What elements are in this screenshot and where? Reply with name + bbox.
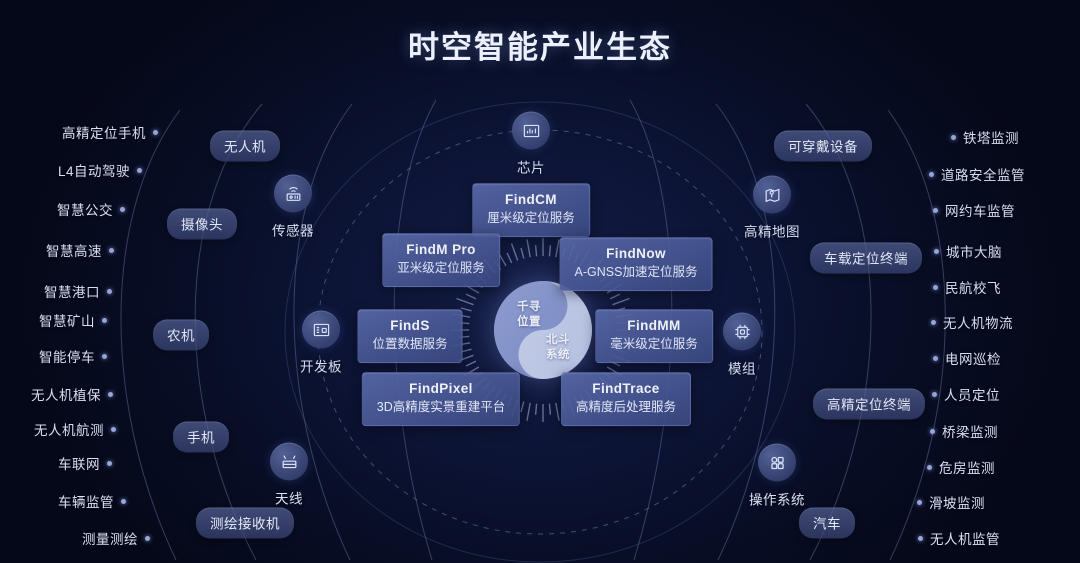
leaf-label-text: 智慧矿山 — [39, 310, 95, 330]
connector-dot-icon — [933, 208, 938, 213]
leaf-label-right[interactable]: 城市大脑 — [934, 241, 1002, 261]
product-card-subtitle: 位置数据服务 — [372, 336, 447, 353]
connector-dot-icon — [137, 168, 142, 173]
icon-node-os[interactable]: 操作系统 — [749, 444, 805, 509]
connector-dot-icon — [153, 130, 158, 135]
product-card-subtitle: 亚米级定位服务 — [397, 260, 485, 277]
product-card-title: FindS — [372, 318, 447, 335]
product-card-findcm[interactable]: FindCM厘米级定位服务 — [472, 183, 590, 237]
leaf-label-text: 智慧港口 — [44, 281, 100, 301]
leaf-label-left[interactable]: 智慧高速 — [46, 240, 114, 260]
leaf-label-text: 智慧高速 — [46, 240, 102, 260]
leaf-label-text: 车辆监管 — [58, 491, 114, 511]
leaf-label-text: 无人机航测 — [34, 419, 104, 439]
connector-dot-icon — [933, 285, 938, 290]
connector-dot-icon — [931, 320, 936, 325]
connector-dot-icon — [145, 536, 150, 541]
leaf-label-left[interactable]: L4自动驾驶 — [58, 160, 142, 180]
product-card-title: FindPixel — [377, 381, 505, 398]
product-card-title: FindM Pro — [397, 242, 485, 259]
product-card-findpixel[interactable]: FindPixel3D高精度实景重建平台 — [362, 372, 520, 426]
core-label-top: 千寻位置 — [506, 300, 552, 330]
page-title: 时空智能产业生态 — [0, 22, 1080, 67]
leaf-label-right[interactable]: 人员定位 — [932, 384, 1000, 404]
leaf-label-right[interactable]: 滑坡监测 — [917, 492, 985, 512]
connector-dot-icon — [930, 429, 935, 434]
connector-dot-icon — [120, 207, 125, 212]
connector-dot-icon — [108, 392, 113, 397]
infographic-canvas: 时空智能产业生态 千寻位置 北斗系统 FindCM厘米级定位服务FindM Pr… — [0, 0, 1080, 563]
pill-hp-term[interactable]: 高精定位终端 — [813, 389, 925, 420]
product-card-title: FindMM — [610, 318, 698, 335]
pill-uav[interactable]: 无人机 — [210, 131, 280, 162]
product-card-subtitle: 3D高精度实景重建平台 — [377, 399, 505, 416]
leaf-label-right[interactable]: 铁塔监测 — [951, 127, 1019, 147]
pill-agri[interactable]: 农机 — [153, 320, 209, 351]
connector-dot-icon — [951, 135, 956, 140]
grid-apps-icon — [758, 444, 796, 482]
leaf-label-text: 铁塔监测 — [963, 127, 1019, 147]
connector-dot-icon — [102, 354, 107, 359]
core-yinyang: 千寻位置 北斗系统 — [494, 281, 592, 379]
icon-node-label: 芯片 — [517, 157, 545, 177]
leaf-label-text: 桥梁监测 — [942, 421, 998, 441]
leaf-label-left[interactable]: 智慧公交 — [57, 199, 125, 219]
product-card-subtitle: 厘米级定位服务 — [487, 210, 575, 227]
connector-dot-icon — [932, 392, 937, 397]
leaf-label-left[interactable]: 智慧港口 — [44, 281, 112, 301]
leaf-label-text: 无人机植保 — [31, 384, 101, 404]
leaf-label-text: 滑坡监测 — [929, 492, 985, 512]
sensor-icon — [274, 175, 312, 213]
leaf-label-text: 道路安全监管 — [941, 164, 1025, 184]
leaf-label-right[interactable]: 民航校飞 — [933, 277, 1001, 297]
connector-dot-icon — [107, 461, 112, 466]
product-card-subtitle: 毫米级定位服务 — [610, 336, 698, 353]
leaf-label-right[interactable]: 桥梁监测 — [930, 421, 998, 441]
chip-icon — [512, 112, 550, 150]
leaf-label-right[interactable]: 电网巡检 — [933, 348, 1001, 368]
module-icon — [723, 313, 761, 351]
leaf-label-text: 网约车监管 — [945, 200, 1015, 220]
leaf-label-left[interactable]: 智能停车 — [39, 346, 107, 366]
core-label-bottom: 北斗系统 — [534, 333, 582, 363]
leaf-label-right[interactable]: 危房监测 — [927, 457, 995, 477]
connector-dot-icon — [109, 248, 114, 253]
icon-node-antenna[interactable]: 天线 — [270, 443, 308, 508]
leaf-label-text: 人员定位 — [944, 384, 1000, 404]
product-card-title: FindCM — [487, 192, 575, 209]
leaf-label-left[interactable]: 无人机植保 — [31, 384, 113, 404]
pill-camera[interactable]: 摄像头 — [167, 209, 237, 240]
leaf-label-right[interactable]: 无人机物流 — [931, 312, 1013, 332]
icon-node-module[interactable]: 模组 — [723, 313, 761, 378]
connector-dot-icon — [934, 249, 939, 254]
leaf-label-text: 城市大脑 — [946, 241, 1002, 261]
leaf-label-text: L4自动驾驶 — [58, 160, 130, 180]
icon-node-label: 模组 — [728, 358, 756, 378]
product-card-findmpro[interactable]: FindM Pro亚米级定位服务 — [382, 233, 500, 287]
product-card-findmm[interactable]: FindMM毫米级定位服务 — [595, 309, 713, 363]
product-card-findtrace[interactable]: FindTrace高精度后处理服务 — [561, 372, 691, 426]
product-card-subtitle: 高精度后处理服务 — [576, 399, 676, 416]
connector-dot-icon — [927, 465, 932, 470]
icon-node-label: 开发板 — [300, 356, 342, 376]
pill-phone[interactable]: 手机 — [173, 422, 229, 453]
devboard-icon — [302, 311, 340, 349]
icon-node-chip[interactable]: 芯片 — [512, 112, 550, 177]
leaf-label-text: 民航校飞 — [945, 277, 1001, 297]
leaf-label-left[interactable]: 高精定位手机 — [62, 122, 158, 142]
map-pin-icon — [753, 176, 791, 214]
pill-vehicle-term[interactable]: 车载定位终端 — [810, 243, 922, 274]
connector-dot-icon — [929, 172, 934, 177]
leaf-label-text: 测量测绘 — [82, 528, 138, 548]
leaf-label-right[interactable]: 无人机监管 — [918, 528, 1000, 548]
leaf-label-text: 无人机物流 — [943, 312, 1013, 332]
icon-node-label: 操作系统 — [749, 489, 805, 509]
pill-car[interactable]: 汽车 — [799, 508, 855, 539]
yinyang-shape — [494, 281, 592, 379]
pill-wearable[interactable]: 可穿戴设备 — [774, 131, 872, 162]
connector-dot-icon — [918, 536, 923, 541]
leaf-label-left[interactable]: 智慧矿山 — [39, 310, 107, 330]
leaf-label-right[interactable]: 道路安全监管 — [929, 164, 1025, 184]
icon-node-label: 传感器 — [272, 220, 314, 240]
leaf-label-text: 无人机监管 — [930, 528, 1000, 548]
icon-node-label: 天线 — [275, 488, 303, 508]
product-card-findnow[interactable]: FindNowA-GNSS加速定位服务 — [560, 237, 713, 291]
icon-node-devboard[interactable]: 开发板 — [300, 311, 342, 376]
connector-dot-icon — [107, 289, 112, 294]
connector-dot-icon — [111, 427, 116, 432]
leaf-label-left[interactable]: 车辆监管 — [58, 491, 126, 511]
product-card-title: FindNow — [575, 246, 698, 263]
leaf-label-text: 高精定位手机 — [62, 122, 146, 142]
connector-dot-icon — [933, 356, 938, 361]
connector-dot-icon — [917, 500, 922, 505]
product-card-subtitle: A-GNSS加速定位服务 — [575, 264, 698, 281]
pill-survey-rx[interactable]: 测绘接收机 — [196, 508, 294, 539]
leaf-label-left[interactable]: 测量测绘 — [82, 528, 150, 548]
antenna-icon — [270, 443, 308, 481]
icon-node-sensor[interactable]: 传感器 — [272, 175, 314, 240]
leaf-label-text: 车联网 — [58, 453, 100, 473]
connector-dot-icon — [121, 499, 126, 504]
product-card-finds[interactable]: FindS位置数据服务 — [357, 309, 462, 363]
leaf-label-left[interactable]: 无人机航测 — [34, 419, 116, 439]
leaf-label-left[interactable]: 车联网 — [58, 453, 112, 473]
leaf-label-text: 电网巡检 — [945, 348, 1001, 368]
icon-node-hdmap[interactable]: 高精地图 — [744, 176, 800, 241]
leaf-label-text: 危房监测 — [939, 457, 995, 477]
leaf-label-right[interactable]: 网约车监管 — [933, 200, 1015, 220]
connector-dot-icon — [102, 318, 107, 323]
product-card-title: FindTrace — [576, 381, 676, 398]
icon-node-label: 高精地图 — [744, 221, 800, 241]
leaf-label-text: 智慧公交 — [57, 199, 113, 219]
leaf-label-text: 智能停车 — [39, 346, 95, 366]
